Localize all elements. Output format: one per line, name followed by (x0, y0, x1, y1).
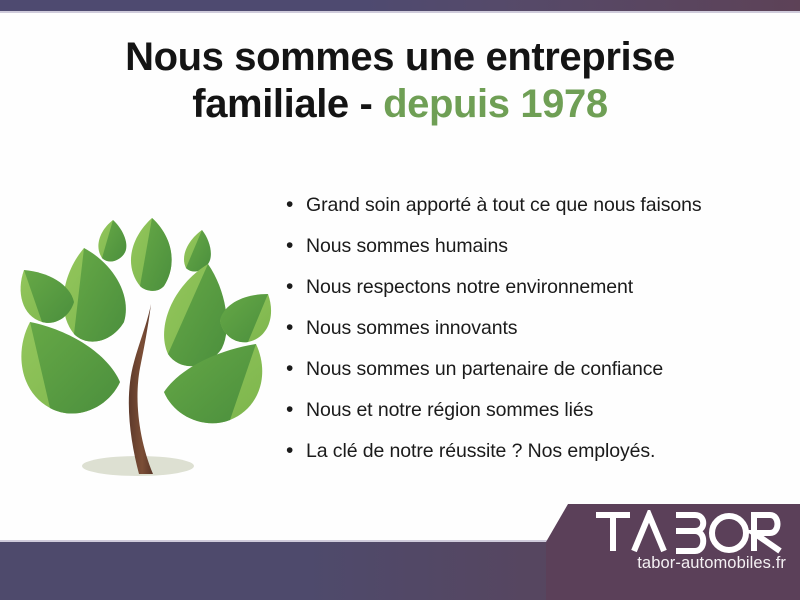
logo-website-url: tabor-automobiles.fr (546, 554, 800, 573)
leaf-upper-left (63, 248, 125, 342)
bullet-marker-icon: • (286, 315, 306, 341)
bullet-text: La clé de notre réussite ? Nos employés. (306, 438, 655, 464)
leaf-top-small-left (98, 220, 126, 261)
title-line-1: Nous sommes une entreprise (40, 34, 760, 81)
list-item: • Nous et notre région sommes liés (286, 397, 776, 438)
bullet-text: Nous sommes un partenaire de confiance (306, 356, 663, 382)
bullet-text: Nous sommes innovants (306, 315, 517, 341)
tabor-wordmark-icon (594, 510, 784, 554)
top-accent-bar-edge (0, 11, 800, 13)
leaf-far-right (220, 294, 271, 342)
bullet-text: Nous et notre région sommes liés (306, 397, 593, 423)
slide-title: Nous sommes une entreprise familiale - d… (40, 34, 760, 128)
bullet-text: Nous sommes humains (306, 233, 508, 259)
list-item: • Nous respectons notre environnement (286, 274, 776, 315)
list-item: • La clé de notre réussite ? Nos employé… (286, 438, 776, 479)
leaf-top-center (131, 218, 172, 292)
title-line-2: familiale - depuis 1978 (40, 81, 760, 128)
list-item: • Grand soin apporté à tout ce que nous … (286, 192, 776, 233)
bullet-list: • Grand soin apporté à tout ce que nous … (286, 192, 776, 479)
bullet-marker-icon: • (286, 397, 306, 423)
top-accent-bar (0, 0, 800, 11)
tree-illustration (12, 182, 278, 496)
list-item: • Nous sommes un partenaire de confiance (286, 356, 776, 397)
brand-logo: tabor-automobiles.fr (546, 504, 800, 600)
leaf-upper-right (164, 264, 227, 366)
slide-canvas: Nous sommes une entreprise familiale - d… (0, 0, 800, 600)
title-line-2-plain: familiale - (192, 82, 383, 126)
title-accent-year: depuis 1978 (383, 82, 608, 126)
bullet-marker-icon: • (286, 233, 306, 259)
bullet-text: Nous respectons notre environnement (306, 274, 633, 300)
bullet-marker-icon: • (286, 438, 306, 464)
bullet-marker-icon: • (286, 192, 306, 218)
tree-trunk (129, 304, 153, 474)
list-item: • Nous sommes humains (286, 233, 776, 274)
bullet-marker-icon: • (286, 274, 306, 300)
list-item: • Nous sommes innovants (286, 315, 776, 356)
bullet-text: Grand soin apporté à tout ce que nous fa… (306, 192, 702, 218)
bullet-marker-icon: • (286, 356, 306, 382)
leaf-far-left (21, 270, 74, 323)
